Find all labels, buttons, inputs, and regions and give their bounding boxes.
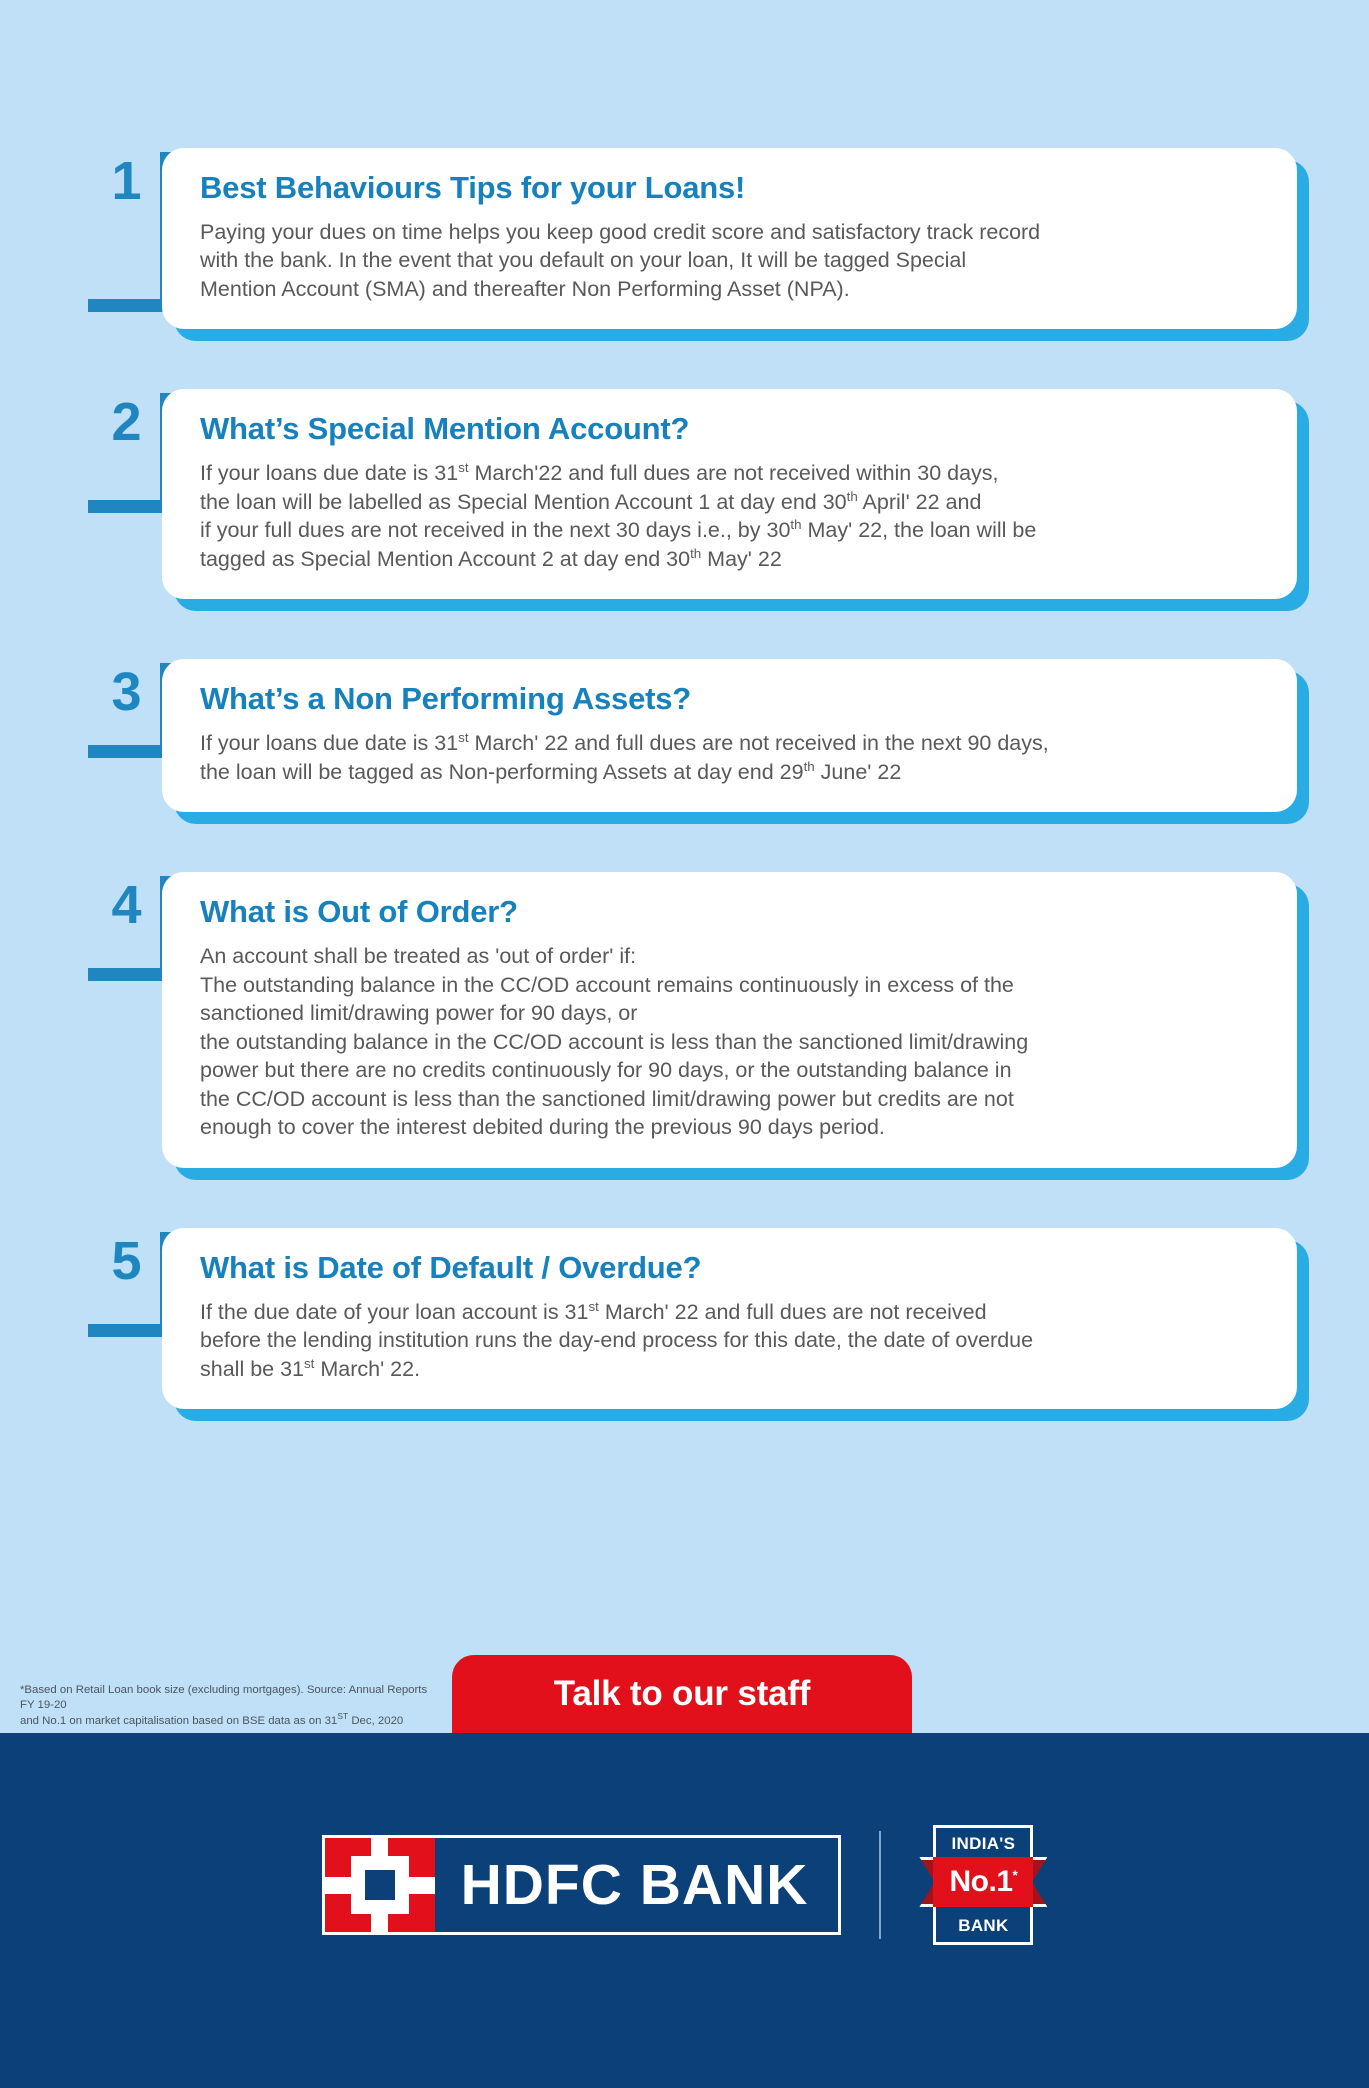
section-card-4: What is Out of Order? An account shall b… [162, 872, 1297, 1168]
section-card-3: What’s a Non Performing Assets? If your … [162, 659, 1297, 812]
footer-divider [879, 1831, 881, 1939]
section-title-3: What’s a Non Performing Assets? [200, 681, 1259, 717]
body-line: before the lending institution runs the … [200, 1326, 1259, 1355]
footnote: *Based on Retail Loan book size (excludi… [20, 1683, 440, 1729]
hdfc-bank-wordmark: HDFC BANK [435, 1838, 839, 1932]
section-body-2: If your loans due date is 31st March'22 … [200, 459, 1259, 573]
badge-bottom-label: BANK [958, 1917, 1008, 1934]
cta-label: Talk to our staff [554, 1674, 811, 1714]
body-line: if your full dues are not received in th… [200, 516, 1259, 545]
sections-container: 1 Best Behaviours Tips for your Loans! P… [0, 0, 1369, 1469]
section-title-5: What is Date of Default / Overdue? [200, 1250, 1259, 1286]
badge-top-label: INDIA'S [952, 1835, 1016, 1852]
section-body-5: If the due date of your loan account is … [200, 1298, 1259, 1384]
body-line: If the due date of your loan account is … [200, 1298, 1259, 1327]
section-body-3: If your loans due date is 31st March' 22… [200, 729, 1259, 786]
section-number-5: 5 [96, 1234, 156, 1288]
footnote-line-2: and No.1 on market capitalisation based … [20, 1714, 440, 1729]
section-card-5: What is Date of Default / Overdue? If th… [162, 1228, 1297, 1409]
badge-center-label: No.1* [950, 1867, 1018, 1897]
poster-root: 1 Best Behaviours Tips for your Loans! P… [0, 0, 1369, 2088]
section-block-3: 3 What’s a Non Performing Assets? If you… [0, 659, 1369, 812]
footer-brand-lockup: HDFC BANK INDIA'S BANK No.1* [0, 1825, 1369, 1945]
talk-to-staff-button[interactable]: Talk to our staff [452, 1655, 912, 1733]
section-body-1: Paying your dues on time helps you keep … [200, 218, 1259, 304]
section-title-4: What is Out of Order? [200, 894, 1259, 930]
section-number-3: 3 [96, 665, 156, 719]
section-title-2: What’s Special Mention Account? [200, 411, 1259, 447]
section-card-1: Best Behaviours Tips for your Loans! Pay… [162, 148, 1297, 329]
indias-no1-bank-badge: INDIA'S BANK No.1* [919, 1825, 1047, 1945]
hdfc-logo-mark-icon [325, 1838, 435, 1932]
body-line: the loan will be labelled as Special Men… [200, 488, 1259, 517]
footnote-line-1: *Based on Retail Loan book size (excludi… [20, 1683, 440, 1714]
body-line: shall be 31st March' 22. [200, 1355, 1259, 1384]
section-number-4: 4 [96, 878, 156, 932]
section-number-1: 1 [96, 154, 156, 208]
body-line: If your loans due date is 31st March'22 … [200, 459, 1259, 488]
body-line: tagged as Special Mention Account 2 at d… [200, 545, 1259, 574]
section-block-1: 1 Best Behaviours Tips for your Loans! P… [0, 148, 1369, 329]
section-block-2: 2 What’s Special Mention Account? If you… [0, 389, 1369, 599]
section-number-2: 2 [96, 395, 156, 449]
badge-ribbon-center: No.1* [933, 1857, 1033, 1907]
section-block-5: 5 What is Date of Default / Overdue? If … [0, 1228, 1369, 1409]
footer-bar: HDFC BANK INDIA'S BANK No.1* [0, 1733, 1369, 2088]
section-title-1: Best Behaviours Tips for your Loans! [200, 170, 1259, 206]
body-line: the loan will be tagged as Non-performin… [200, 758, 1259, 787]
section-card-2: What’s Special Mention Account? If your … [162, 389, 1297, 599]
section-body-4: An account shall be treated as 'out of o… [200, 942, 1259, 1142]
body-line: If your loans due date is 31st March' 22… [200, 729, 1259, 758]
hdfc-bank-logo: HDFC BANK [322, 1835, 842, 1935]
section-block-4: 4 What is Out of Order? An account shall… [0, 872, 1369, 1168]
